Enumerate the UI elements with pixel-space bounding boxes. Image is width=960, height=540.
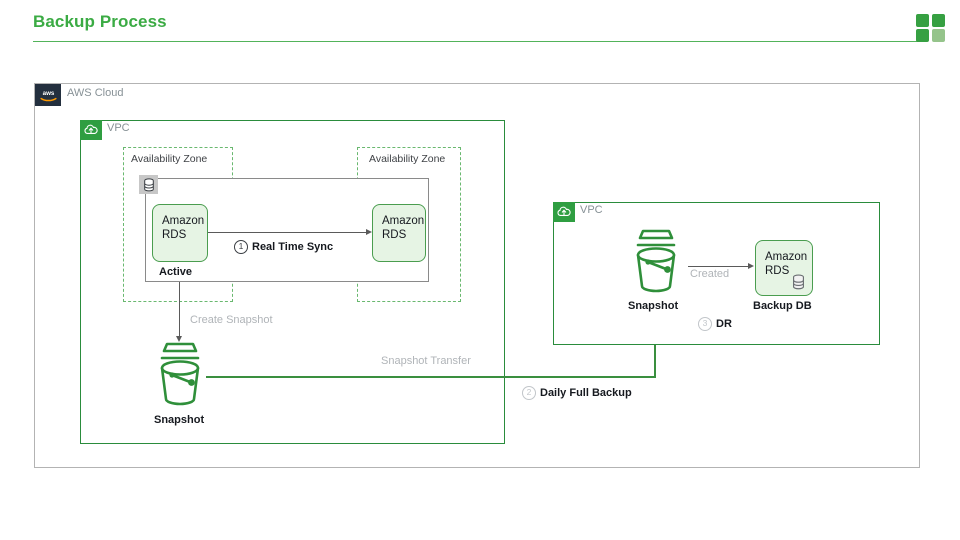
vpc-label-primary: VPC	[107, 122, 130, 134]
amazon-rds-backup-caption: Backup DB	[753, 300, 812, 312]
aws-cloud-label: AWS Cloud	[67, 87, 123, 99]
page-title: Backup Process	[33, 12, 167, 32]
edge-real-time-sync-line	[208, 232, 368, 233]
step-dr-label: 3DR	[698, 317, 732, 331]
edge-create-snapshot-label: Create Snapshot	[190, 314, 273, 326]
vpc-cloud-arrow-icon	[80, 120, 102, 140]
availability-zone-2-label: Availability Zone	[369, 153, 445, 165]
snapshot-bucket-icon-dr[interactable]	[628, 228, 684, 299]
amazon-rds-backup-node[interactable]: Amazon RDS	[755, 240, 813, 296]
edge-real-time-sync-arrowhead	[366, 229, 372, 235]
brand-logo-square-3	[916, 29, 929, 42]
step-number-3: 3	[698, 317, 712, 331]
title-divider	[33, 41, 927, 42]
step-dr-text: DR	[716, 318, 732, 330]
edge-create-snapshot-line	[179, 282, 180, 338]
brand-logo-square-4	[932, 29, 945, 42]
edge-daily-full-backup-text: Daily Full Backup	[540, 387, 632, 399]
amazon-rds-active-node[interactable]: Amazon RDS	[152, 204, 208, 262]
step-number-1: 1	[234, 240, 248, 254]
step-number-2: 2	[522, 386, 536, 400]
amazon-rds-active-label: Amazon RDS	[162, 214, 204, 242]
brand-logo-square-2	[932, 14, 945, 27]
database-mini-icon	[791, 274, 806, 290]
brand-logo	[916, 14, 946, 42]
diagram-canvas: Backup Process aws AWS Cloud VPC Availab…	[0, 0, 960, 540]
edge-created-arrowhead	[748, 263, 754, 269]
edge-created-label: Created	[690, 268, 729, 280]
snapshot-bucket-icon-primary[interactable]	[152, 341, 208, 412]
edge-created-line	[688, 266, 750, 267]
amazon-rds-standby-label: Amazon RDS	[382, 214, 424, 242]
edge-snapshot-transfer-line	[206, 376, 656, 378]
edge-real-time-sync-label: 1Real Time Sync	[234, 240, 333, 254]
vpc-cloud-arrow-icon-dr	[553, 202, 575, 222]
database-group-icon	[139, 175, 158, 194]
snapshot-dr-caption: Snapshot	[628, 300, 678, 312]
amazon-rds-standby-node[interactable]: Amazon RDS	[372, 204, 426, 262]
svg-text:aws: aws	[42, 90, 54, 97]
edge-daily-full-backup-label: 2Daily Full Backup	[522, 386, 632, 400]
amazon-rds-active-caption: Active	[159, 266, 192, 278]
aws-logo-icon: aws	[35, 84, 61, 106]
edge-real-time-sync-text: Real Time Sync	[252, 241, 333, 253]
availability-zone-1-label: Availability Zone	[131, 153, 207, 165]
brand-logo-square-1	[916, 14, 929, 27]
edge-snapshot-transfer-label: Snapshot Transfer	[381, 355, 471, 367]
snapshot-primary-caption: Snapshot	[154, 414, 204, 426]
vpc-label-dr: VPC	[580, 204, 603, 216]
